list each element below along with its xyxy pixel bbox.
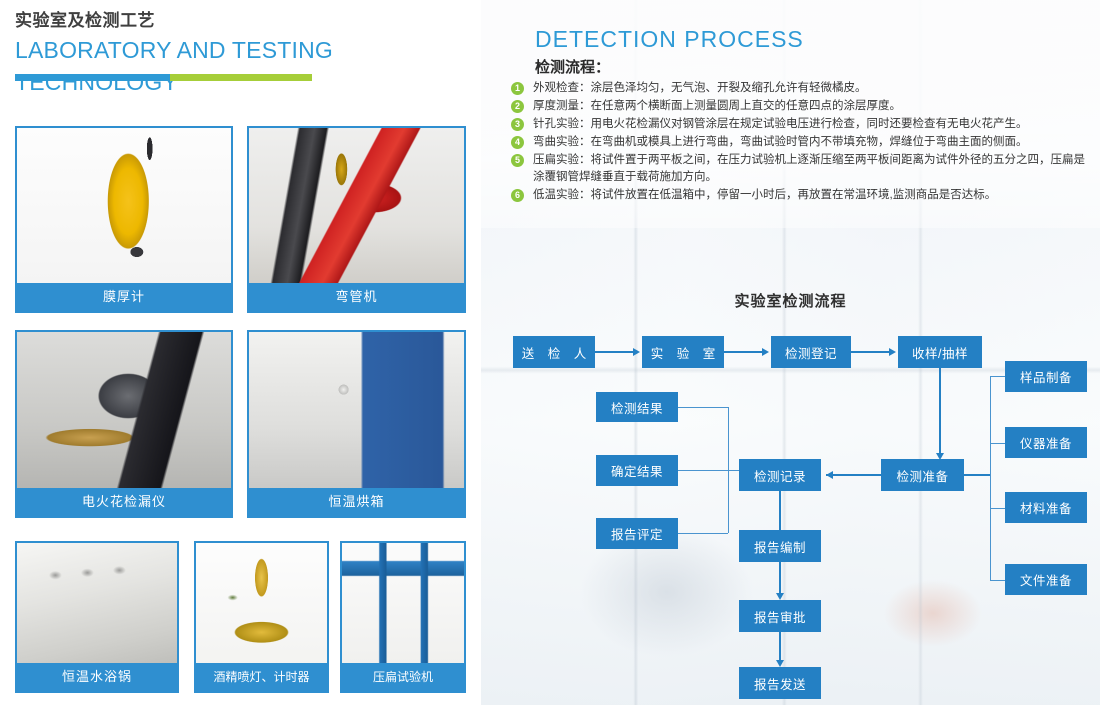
flow-connector (678, 407, 728, 408)
alcohol-blowtorch-timer-photo (196, 543, 327, 667)
equipment-card-caption: 恒温水浴锅 (17, 663, 177, 691)
flow-node-report-approve[interactable]: 报告审批 (739, 600, 821, 632)
flattening-testing-machine-photo (342, 543, 464, 667)
flow-node-report-assess[interactable]: 报告评定 (596, 518, 678, 549)
spark-leak-detector-photo (17, 332, 231, 492)
equipment-card-alcohol-blowtorch-timer[interactable]: 酒精喷灯、计时器 (194, 541, 329, 693)
equipment-card-caption: 电火花检漏仪 (17, 488, 231, 516)
flow-node-laboratory[interactable]: 实 验 室 (642, 336, 724, 368)
equipment-card-caption: 恒温烘箱 (249, 488, 464, 516)
flow-node-test-registration[interactable]: 检测登记 (771, 336, 851, 368)
flow-connector (779, 562, 781, 595)
equipment-card-caption: 膜厚计 (17, 283, 231, 311)
flow-connector (964, 474, 990, 476)
flow-connector (724, 351, 764, 353)
page-title-cn: 实验室及检测工艺 (15, 8, 465, 34)
flow-connector (779, 632, 781, 662)
flow-node-sample-prep[interactable]: 样品制备 (1005, 361, 1087, 392)
divider-blue-segment (15, 74, 170, 81)
film-thickness-gauge-photo (17, 128, 231, 287)
flow-connector (595, 351, 635, 353)
flow-node-sampling[interactable]: 收样/抽样 (898, 336, 982, 368)
flow-arrow-right-icon (762, 348, 769, 356)
flow-arrow-down-icon (776, 593, 784, 600)
equipment-card-caption: 弯管机 (249, 283, 464, 311)
equipment-card-water-bath[interactable]: 恒温水浴锅 (15, 541, 179, 693)
flow-node-document-prep[interactable]: 文件准备 (1005, 564, 1087, 595)
poster-page: 实验室及检测工艺 LABORATORY AND TESTING TECHNOLO… (0, 0, 1100, 705)
flow-connector (990, 376, 991, 581)
flow-node-report-compile[interactable]: 报告编制 (739, 530, 821, 562)
equipment-card-spark-leak-detector[interactable]: 电火花检漏仪 (15, 330, 233, 518)
laboratory-detection-flowchart: 送 检 人 实 验 室 检测登记 收样/抽样 检测准备 样品制备 仪器准备 (481, 0, 1100, 705)
flow-connector (779, 491, 781, 531)
flow-node-instrument-prep[interactable]: 仪器准备 (1005, 427, 1087, 458)
equipment-card-constant-temperature-oven[interactable]: 恒温烘箱 (247, 330, 466, 518)
flow-connector (826, 474, 881, 476)
equipment-card-pipe-bending-machine[interactable]: 弯管机 (247, 126, 466, 313)
header-block: 实验室及检测工艺 LABORATORY AND TESTING TECHNOLO… (15, 8, 465, 98)
flow-node-test-result[interactable]: 检测结果 (596, 392, 678, 422)
divider-green-segment (170, 74, 312, 81)
flow-node-submitter[interactable]: 送 检 人 (513, 336, 595, 368)
constant-temperature-water-bath-photo (17, 543, 177, 667)
equipment-card-film-thickness-gauge[interactable]: 膜厚计 (15, 126, 233, 313)
flow-node-test-preparation[interactable]: 检测准备 (881, 459, 964, 491)
flow-connector (851, 351, 891, 353)
flow-node-confirm-result[interactable]: 确定结果 (596, 455, 678, 486)
flow-node-report-send[interactable]: 报告发送 (739, 667, 821, 699)
flow-arrow-left-icon (826, 471, 833, 479)
flow-arrow-right-icon (633, 348, 640, 356)
pipe-bending-machine-photo (249, 128, 464, 287)
flow-arrow-down-icon (776, 660, 784, 667)
page-title-en: LABORATORY AND TESTING TECHNOLOGY (15, 34, 465, 98)
flow-connector (678, 533, 728, 534)
equipment-card-flattening-testing-machine[interactable]: 压扁试验机 (340, 541, 466, 693)
left-panel: 实验室及检测工艺 LABORATORY AND TESTING TECHNOLO… (0, 0, 481, 705)
right-panel: DETECTION PROCESS 检测流程： 1 外观检查：涂层色泽均匀，无气… (481, 0, 1100, 705)
flow-node-test-record[interactable]: 检测记录 (739, 459, 821, 491)
constant-temperature-oven-photo (249, 332, 464, 492)
equipment-card-caption: 酒精喷灯、计时器 (196, 663, 327, 691)
flow-connector (939, 368, 941, 455)
flow-node-material-prep[interactable]: 材料准备 (1005, 492, 1087, 523)
flow-connector (728, 407, 729, 533)
equipment-card-caption: 压扁试验机 (342, 663, 464, 691)
flow-connector (678, 470, 739, 471)
flow-arrow-right-icon (889, 348, 896, 356)
title-divider (15, 74, 312, 81)
